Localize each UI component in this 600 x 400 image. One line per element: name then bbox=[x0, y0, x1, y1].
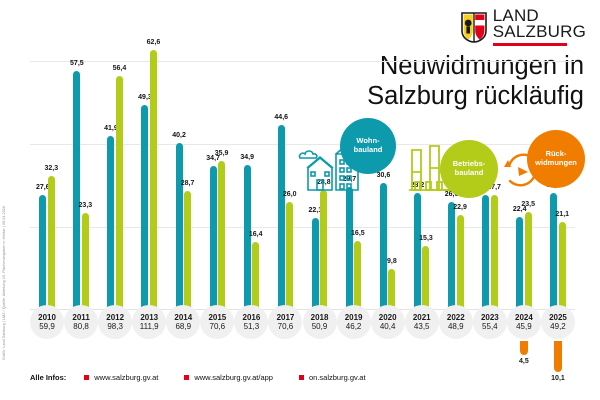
bar-group: 26,022,9 bbox=[439, 202, 473, 310]
year-label: 2023 bbox=[481, 313, 499, 322]
bar-wohnbauland-2012[interactable]: 41,9 bbox=[107, 136, 114, 310]
bar-group: 22,423,5 bbox=[507, 212, 541, 310]
bar-betriebsbauland-2021[interactable]: 15,3 bbox=[422, 246, 429, 310]
year-pill-2016[interactable]: 201651,3 bbox=[234, 305, 268, 339]
bar-wohnbauland-2023[interactable]: 27,7 bbox=[482, 195, 489, 310]
year-label: 2025 bbox=[549, 313, 567, 322]
bar-group: 29,716,5 bbox=[337, 187, 371, 310]
year-pill-2019[interactable]: 201946,2 bbox=[337, 305, 371, 339]
year-label: 2018 bbox=[311, 313, 329, 322]
negative-bar-rueckwidmungen-2025[interactable]: 10,1 bbox=[554, 341, 562, 372]
year-total: 80,8 bbox=[73, 322, 89, 331]
negative-bar-rueckwidmungen-2024[interactable]: 4,5 bbox=[520, 341, 528, 355]
salzburg-coat-of-arms-icon bbox=[461, 11, 487, 43]
negative-bar-value-label: 4,5 bbox=[519, 358, 529, 365]
footer-link-2[interactable]: www.salzburg.gv.at/app bbox=[184, 373, 273, 382]
bar-wohnbauland-2022[interactable]: 26,0 bbox=[448, 202, 455, 310]
bar-group: 41,956,4 bbox=[98, 76, 132, 310]
bar-betriebsbauland-2015[interactable]: 35,9 bbox=[218, 161, 225, 310]
bar-value-label: 32,3 bbox=[44, 165, 58, 172]
bar-group: 49,362,6 bbox=[132, 50, 166, 310]
year-label: 2014 bbox=[174, 313, 192, 322]
bar-group: 28,121,1 bbox=[541, 193, 575, 310]
bar-betriebsbauland-2020[interactable]: 9,8 bbox=[388, 269, 395, 310]
bar-value-label: 35,9 bbox=[215, 150, 229, 157]
bar-betriebsbauland-2016[interactable]: 16,4 bbox=[252, 242, 259, 310]
bar-wohnbauland-2020[interactable]: 30,6 bbox=[380, 183, 387, 310]
year-pill-2018[interactable]: 201850,9 bbox=[303, 305, 337, 339]
year-pill-2020[interactable]: 202040,4 bbox=[371, 305, 405, 339]
bar-group: 57,523,3 bbox=[64, 71, 98, 310]
year-pill-2022[interactable]: 202248,9 bbox=[439, 305, 473, 339]
year-pill-2010[interactable]: 201059,9 bbox=[30, 305, 64, 339]
bar-wohnbauland-2011[interactable]: 57,5 bbox=[73, 71, 80, 310]
bar-value-label: 16,5 bbox=[351, 230, 365, 237]
bar-betriebsbauland-2010[interactable]: 32,3 bbox=[48, 176, 55, 310]
year-pill-2024[interactable]: 202445,9 bbox=[507, 305, 541, 339]
legend-label-1b: bauland bbox=[354, 145, 383, 154]
year-pill-2011[interactable]: 201180,8 bbox=[64, 305, 98, 339]
bar-wohnbauland-2024[interactable]: 22,4 bbox=[516, 217, 523, 310]
bar-wohnbauland-2021[interactable]: 28,2 bbox=[414, 193, 421, 310]
year-pill-2025[interactable]: 202549,2 bbox=[541, 305, 575, 339]
bar-wohnbauland-2019[interactable]: 29,7 bbox=[346, 187, 353, 310]
bar-value-label: 30,6 bbox=[377, 172, 391, 179]
year-total: 98,3 bbox=[107, 322, 123, 331]
year-total: 70,6 bbox=[278, 322, 294, 331]
bar-wohnbauland-2013[interactable]: 49,3 bbox=[141, 105, 148, 310]
bar-group: 27,632,3 bbox=[30, 176, 64, 310]
year-label: 2010 bbox=[38, 313, 56, 322]
bar-value-label: 23,5 bbox=[521, 201, 535, 208]
bar-betriebsbauland-2025[interactable]: 21,1 bbox=[559, 222, 566, 310]
bar-betriebsbauland-2023[interactable]: 27,7 bbox=[491, 195, 498, 310]
bar-group: 34,916,4 bbox=[234, 165, 268, 310]
bar-value-label: 57,5 bbox=[70, 60, 84, 67]
bullet-square-icon bbox=[184, 375, 189, 380]
bar-value-label: 28,7 bbox=[181, 180, 195, 187]
year-label: 2012 bbox=[106, 313, 124, 322]
bar-value-label: 9,8 bbox=[387, 258, 397, 265]
bar-wohnbauland-2010[interactable]: 27,6 bbox=[39, 195, 46, 310]
year-pill-2017[interactable]: 201770,6 bbox=[268, 305, 302, 339]
bar-value-label: 22,9 bbox=[453, 204, 467, 211]
year-pill-2014[interactable]: 201468,9 bbox=[166, 305, 200, 339]
bar-wohnbauland-2014[interactable]: 40,2 bbox=[176, 143, 183, 310]
negative-bar-value-label: 10,1 bbox=[551, 375, 565, 382]
bar-betriebsbauland-2011[interactable]: 23,3 bbox=[82, 213, 89, 310]
bullet-square-icon bbox=[84, 375, 89, 380]
footer-links: Alle Infos: www.salzburg.gv.at www.salzb… bbox=[30, 373, 392, 382]
bar-betriebsbauland-2019[interactable]: 16,5 bbox=[354, 241, 361, 310]
year-label: 2011 bbox=[72, 313, 89, 322]
bar-value-label: 62,6 bbox=[147, 39, 161, 46]
year-label: 2013 bbox=[140, 313, 158, 322]
bar-value-label: 16,4 bbox=[249, 231, 263, 238]
year-total: 51,3 bbox=[244, 322, 260, 331]
year-pill-2012[interactable]: 201298,3 bbox=[98, 305, 132, 339]
year-total: 50,9 bbox=[312, 322, 328, 331]
year-total: 45,9 bbox=[516, 322, 532, 331]
logo-line-2: SALZBURG bbox=[493, 24, 586, 40]
year-label: 2015 bbox=[208, 313, 226, 322]
year-total: 55,4 bbox=[482, 322, 498, 331]
bar-value-label: 15,3 bbox=[419, 235, 433, 242]
year-total: 49,2 bbox=[550, 322, 566, 331]
year-label: 2020 bbox=[379, 313, 397, 322]
year-pill-2015[interactable]: 201570,6 bbox=[200, 305, 234, 339]
bullet-square-icon bbox=[299, 375, 304, 380]
bar-value-label: 44,6 bbox=[274, 114, 288, 121]
bar-wohnbauland-2015[interactable]: 34,7 bbox=[210, 166, 217, 310]
year-pill-2021[interactable]: 202143,5 bbox=[405, 305, 439, 339]
year-label: 2017 bbox=[277, 313, 295, 322]
legend-bubble-rueckwidmungen[interactable]: Rück- widmungen bbox=[527, 130, 585, 188]
bar-value-label: 21,1 bbox=[555, 211, 569, 218]
year-pill-2023[interactable]: 202355,4 bbox=[473, 305, 507, 339]
year-total: 43,5 bbox=[414, 322, 430, 331]
bar-value-label: 23,3 bbox=[79, 202, 93, 209]
legend-bubble-betriebsbauland[interactable]: Betriebs- bauland bbox=[440, 140, 498, 198]
infographic-root: Grafik: Land Salzburg | LMZ / Quelle: Ab… bbox=[0, 0, 600, 400]
footer-link-3-label: on.salzburg.gv.at bbox=[309, 373, 366, 382]
footer-link-1[interactable]: www.salzburg.gv.at bbox=[84, 373, 158, 382]
footer-lead: Alle Infos: bbox=[30, 373, 66, 382]
bar-group: 27,727,7 bbox=[473, 195, 507, 310]
year-total: 48,9 bbox=[448, 322, 464, 331]
year-total: 68,9 bbox=[175, 322, 191, 331]
bar-wohnbauland-2017[interactable]: 44,6 bbox=[278, 125, 285, 310]
bar-value-label: 56,4 bbox=[113, 65, 127, 72]
footer-link-1-label: www.salzburg.gv.at bbox=[94, 373, 158, 382]
bar-betriebsbauland-2012[interactable]: 56,4 bbox=[116, 76, 123, 310]
year-label: 2016 bbox=[243, 313, 261, 322]
bar-betriebsbauland-2017[interactable]: 26,0 bbox=[286, 202, 293, 310]
bar-betriebsbauland-2024[interactable]: 23,5 bbox=[525, 212, 532, 310]
bar-betriebsbauland-2018[interactable]: 28,8 bbox=[320, 190, 327, 310]
year-total: 40,4 bbox=[380, 322, 396, 331]
year-pill-2013[interactable]: 2013111,9 bbox=[132, 305, 166, 339]
legend-bubble-wohnbauland[interactable]: Wohn- bauland bbox=[340, 118, 396, 174]
bar-group: 30,69,8 bbox=[371, 183, 405, 310]
bar-wohnbauland-2018[interactable]: 22,1 bbox=[312, 218, 319, 310]
bar-value-label: 34,9 bbox=[240, 154, 254, 161]
bar-betriebsbauland-2014[interactable]: 28,7 bbox=[184, 191, 191, 310]
bar-value-label: 40,2 bbox=[172, 132, 186, 139]
year-total: 70,6 bbox=[210, 322, 226, 331]
credit-text: Grafik: Land Salzburg | LMZ / Quelle: Ab… bbox=[2, 180, 6, 360]
bar-group: 34,735,9 bbox=[200, 161, 234, 310]
year-label: 2019 bbox=[345, 313, 363, 322]
legend-label-2b: bauland bbox=[455, 168, 484, 177]
legend-label-3b: widmungen bbox=[535, 158, 577, 167]
year-total: 46,2 bbox=[346, 322, 362, 331]
footer-link-2-label: www.salzburg.gv.at/app bbox=[194, 373, 273, 382]
bar-value-label: 26,0 bbox=[283, 191, 297, 198]
gridline bbox=[30, 61, 575, 62]
bar-group: 22,128,8 bbox=[303, 190, 337, 310]
year-total: 111,9 bbox=[140, 322, 159, 331]
bar-group: 28,215,3 bbox=[405, 193, 439, 310]
bar-betriebsbauland-2022[interactable]: 22,9 bbox=[457, 215, 464, 310]
year-label: 2024 bbox=[515, 313, 533, 322]
year-label: 2022 bbox=[447, 313, 465, 322]
bar-group: 40,228,7 bbox=[166, 143, 200, 310]
footer-link-3[interactable]: on.salzburg.gv.at bbox=[299, 373, 366, 382]
bar-betriebsbauland-2013[interactable]: 62,6 bbox=[150, 50, 157, 310]
year-label: 2021 bbox=[413, 313, 431, 322]
year-total: 59,9 bbox=[39, 322, 55, 331]
